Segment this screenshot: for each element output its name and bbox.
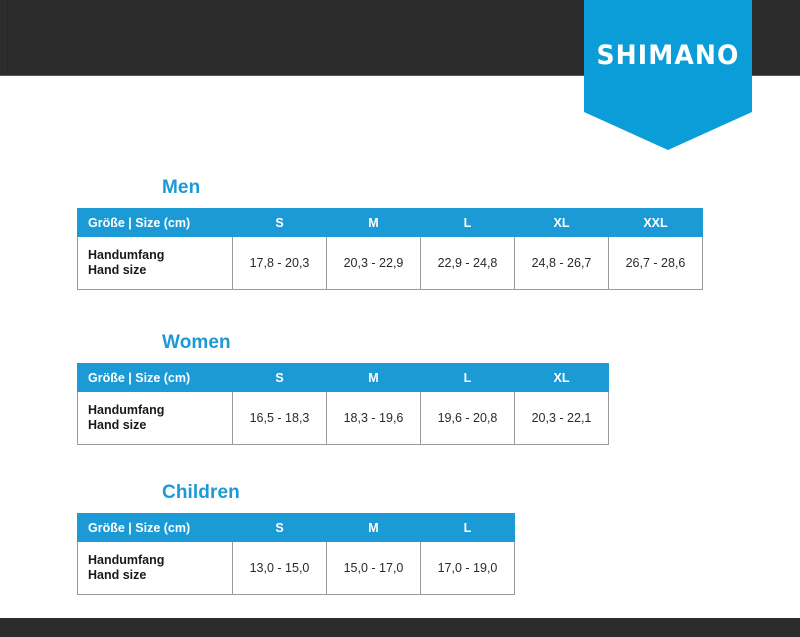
column-header-l: L: [421, 209, 515, 237]
cell-men-s: 17,8 - 20,3: [233, 237, 327, 290]
cell-children-l: 17,0 - 19,0: [421, 542, 515, 595]
column-header-size-label: Größe | Size (cm): [78, 364, 233, 392]
cell-men-m: 20,3 - 22,9: [327, 237, 421, 290]
column-header-xl: XL: [515, 209, 609, 237]
column-header-m: M: [327, 209, 421, 237]
section-title-children: Children: [162, 482, 515, 504]
cell-children-s: 13,0 - 15,0: [233, 542, 327, 595]
row-label-line-de: Handumfang: [88, 553, 232, 568]
row-label-hand-size: Handumfang Hand size: [78, 237, 233, 290]
cell-children-m: 15,0 - 17,0: [327, 542, 421, 595]
column-header-s: S: [233, 514, 327, 542]
column-header-xxl: XXL: [609, 209, 703, 237]
column-header-xl: XL: [515, 364, 609, 392]
cell-women-s: 16,5 - 18,3: [233, 392, 327, 445]
header-edge-line: [7, 0, 8, 76]
cell-men-l: 22,9 - 24,8: [421, 237, 515, 290]
column-header-size-label: Größe | Size (cm): [78, 514, 233, 542]
table-header-row: Größe | Size (cm) S M L: [78, 514, 515, 542]
table-row: Handumfang Hand size 13,0 - 15,0 15,0 - …: [78, 542, 515, 595]
content-area: Men Größe | Size (cm) S M L XL XXL: [0, 76, 800, 618]
section-men: Men Größe | Size (cm) S M L XL XXL: [77, 177, 703, 290]
size-table-women: Größe | Size (cm) S M L XL Handumfang Ha…: [77, 363, 609, 445]
size-table-men: Größe | Size (cm) S M L XL XXL Handumfan…: [77, 208, 703, 290]
row-label-line-en: Hand size: [88, 568, 232, 583]
column-header-l: L: [421, 364, 515, 392]
cell-men-xl: 24,8 - 26,7: [515, 237, 609, 290]
cell-men-xxl: 26,7 - 28,6: [609, 237, 703, 290]
cell-women-xl: 20,3 - 22,1: [515, 392, 609, 445]
column-header-m: M: [327, 514, 421, 542]
column-header-m: M: [327, 364, 421, 392]
row-label-line-de: Handumfang: [88, 403, 232, 418]
cell-women-m: 18,3 - 19,6: [327, 392, 421, 445]
row-label-hand-size: Handumfang Hand size: [78, 542, 233, 595]
ribbon-shape-icon: [584, 0, 752, 150]
column-header-s: S: [233, 209, 327, 237]
page-footer: [0, 618, 800, 637]
section-children: Children Größe | Size (cm) S M L Handumf…: [77, 482, 515, 595]
section-title-men: Men: [162, 177, 703, 199]
row-label-hand-size: Handumfang Hand size: [78, 392, 233, 445]
row-label-line-en: Hand size: [88, 418, 232, 433]
column-header-size-label: Größe | Size (cm): [78, 209, 233, 237]
section-women: Women Größe | Size (cm) S M L XL: [77, 332, 609, 445]
shimano-logo-ribbon: SHIMANO: [584, 0, 752, 150]
section-title-women: Women: [162, 332, 609, 354]
column-header-l: L: [421, 514, 515, 542]
column-header-s: S: [233, 364, 327, 392]
table-row: Handumfang Hand size 16,5 - 18,3 18,3 - …: [78, 392, 609, 445]
table-row: Handumfang Hand size 17,8 - 20,3 20,3 - …: [78, 237, 703, 290]
row-label-line-en: Hand size: [88, 263, 232, 278]
table-header-row: Größe | Size (cm) S M L XL: [78, 364, 609, 392]
cell-women-l: 19,6 - 20,8: [421, 392, 515, 445]
shimano-wordmark: SHIMANO: [590, 40, 746, 71]
row-label-line-de: Handumfang: [88, 248, 232, 263]
size-table-children: Größe | Size (cm) S M L Handumfang Hand …: [77, 513, 515, 595]
table-header-row: Größe | Size (cm) S M L XL XXL: [78, 209, 703, 237]
